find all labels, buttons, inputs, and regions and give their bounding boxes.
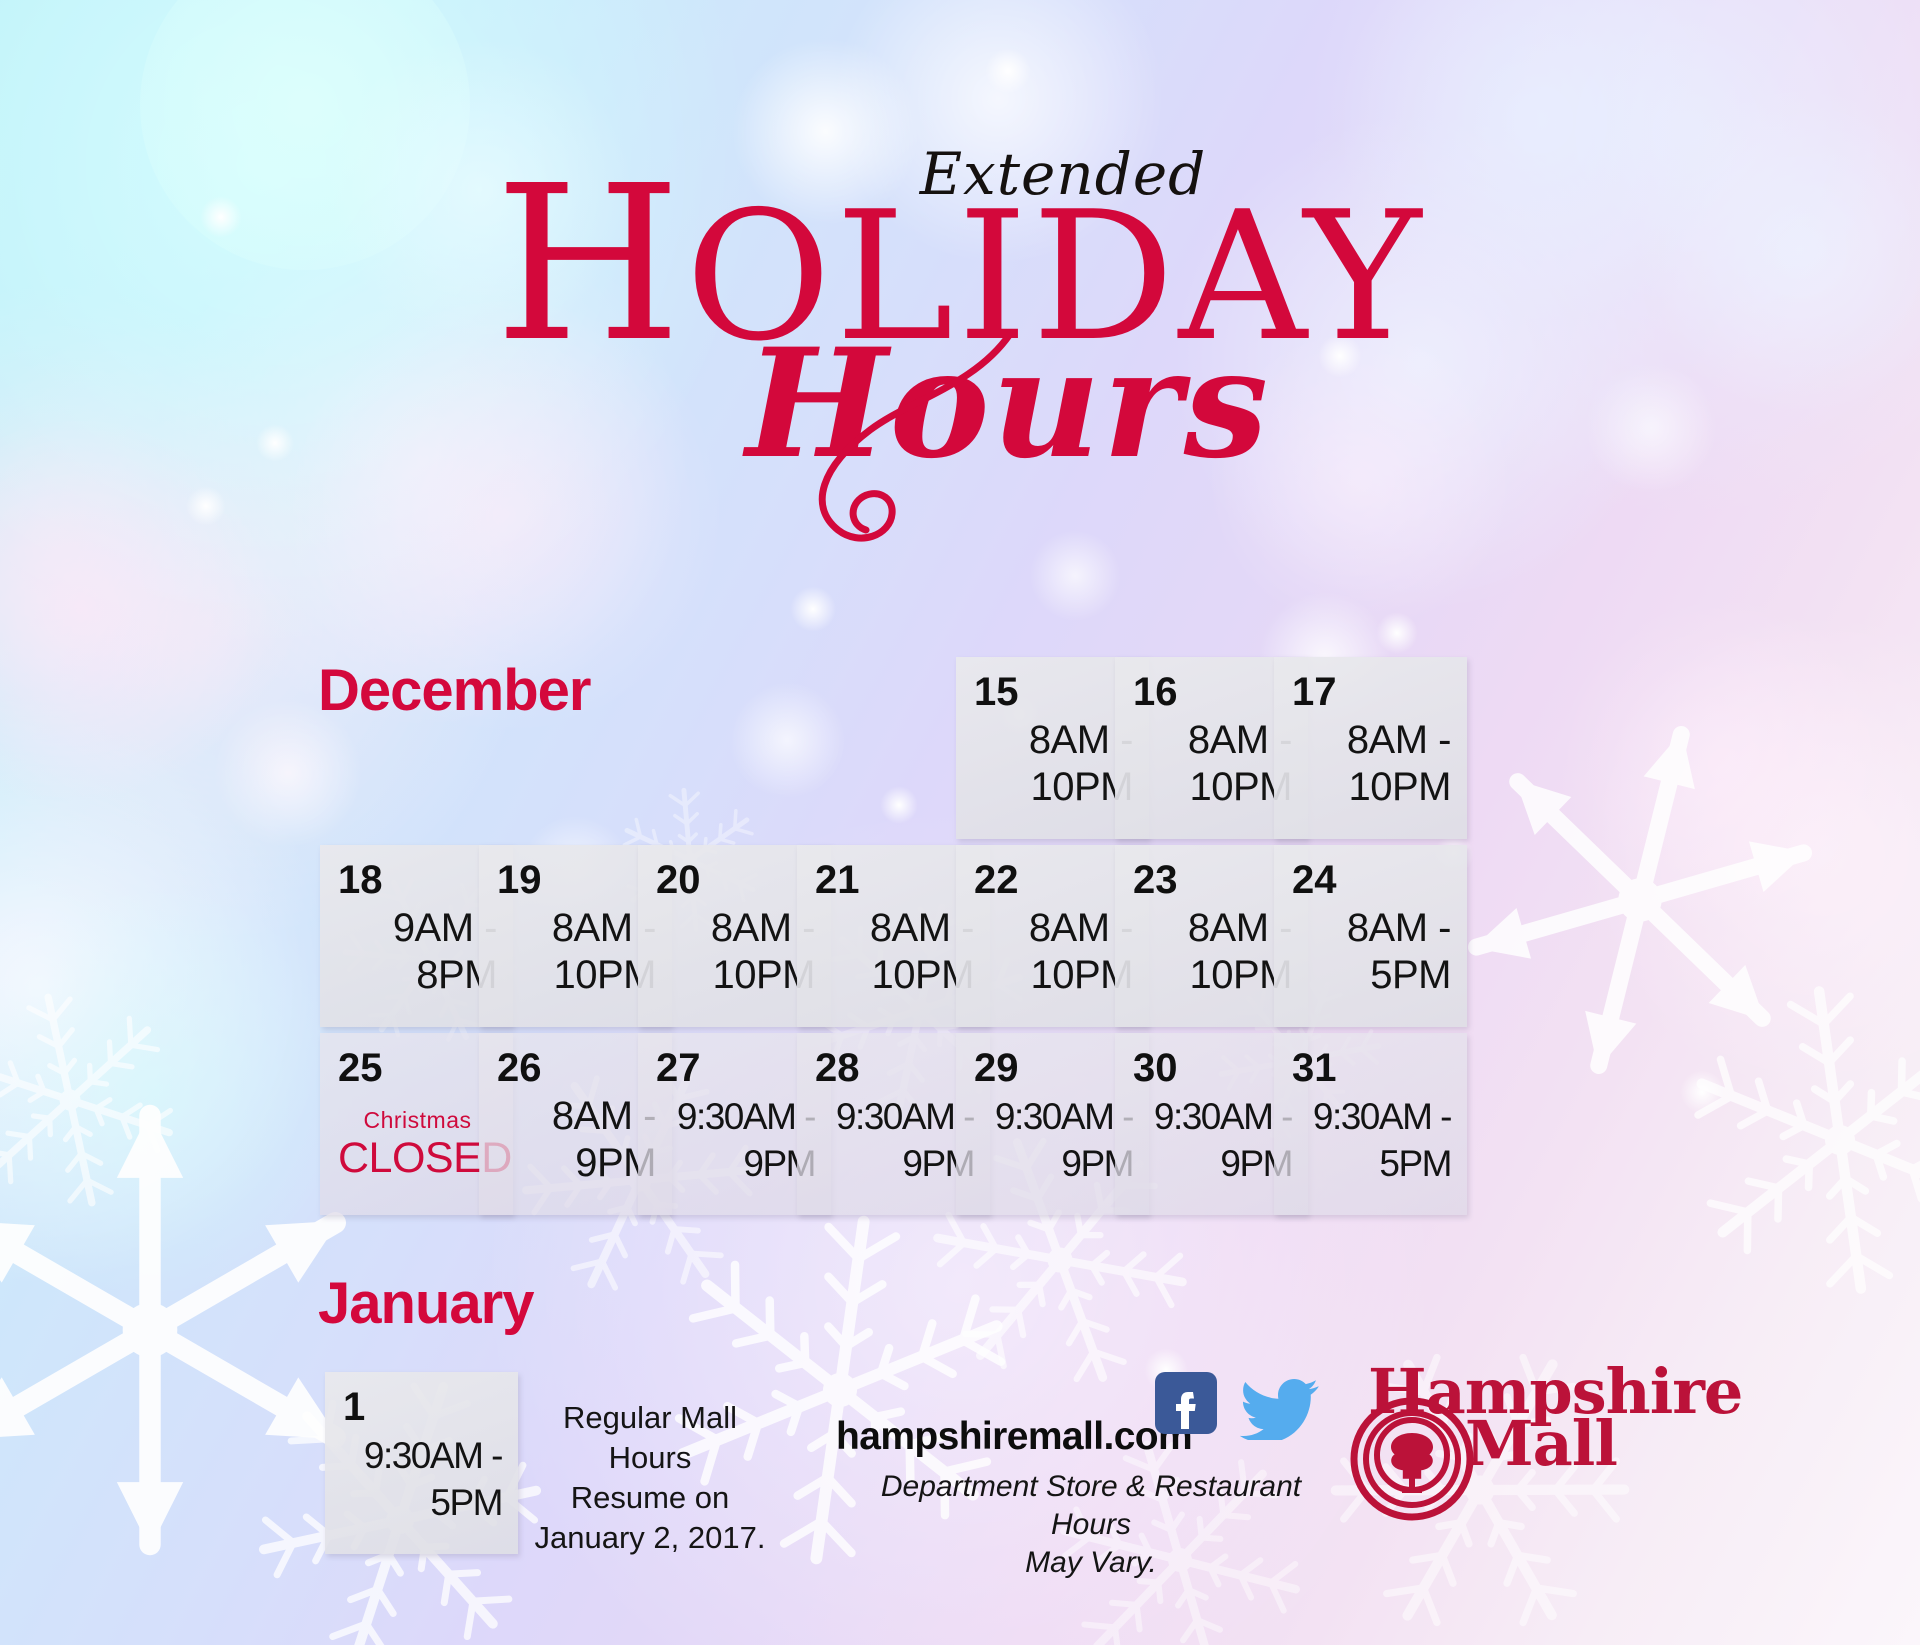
day-hours: 8AM -10PM	[656, 905, 815, 999]
day-hours: 8AM -10PM	[974, 905, 1133, 999]
day-cell-24: 248AM -5PM	[1274, 845, 1467, 1027]
text-line: January 2, 2017.	[520, 1518, 780, 1558]
title-extended-script: Extended	[103, 140, 1920, 208]
text-line: May Vary.	[856, 1544, 1326, 1582]
christmas-label: Christmas	[338, 1107, 497, 1134]
closed-status: CLOSED	[338, 1134, 497, 1182]
day-hours: 9:30AM -5PM	[1292, 1093, 1451, 1187]
facebook-icon[interactable]	[1155, 1372, 1217, 1434]
day-number: 30	[1133, 1047, 1292, 1089]
bokeh-circle	[140, 0, 470, 270]
title-holiday-capital: H	[495, 140, 686, 389]
day-number: 24	[1292, 859, 1451, 901]
day-number: 19	[497, 859, 656, 901]
day-number: 1	[343, 1386, 502, 1428]
bokeh-circle	[330, 40, 630, 340]
day-hours: 9:30AM -9PM	[974, 1093, 1133, 1187]
day-hours: 8AM -10PM	[497, 905, 656, 999]
day-number: 20	[656, 859, 815, 901]
month-heading-december: December	[318, 657, 590, 724]
title-swash-flourish	[760, 330, 1020, 550]
sparkle	[200, 196, 242, 238]
day-number: 25	[338, 1047, 497, 1089]
sparkle	[1376, 612, 1418, 654]
day-hours: 9:30AM -9PM	[1133, 1093, 1292, 1187]
day-cell-31: 319:30AM -5PM	[1274, 1033, 1467, 1215]
bokeh-circle	[0, 420, 270, 800]
resume-hours-note: Regular Mall HoursResume onJanuary 2, 20…	[520, 1398, 780, 1558]
day-hours: 8AM -9PM	[497, 1093, 656, 1187]
day-hours: 8AM -10PM	[1292, 717, 1451, 811]
bokeh-circle	[0, 880, 360, 1300]
day-hours: 8AM -10PM	[1133, 717, 1292, 811]
day-hours: 8AM -10PM	[815, 905, 974, 999]
bokeh-circle	[1640, 90, 1920, 410]
day-number: 23	[1133, 859, 1292, 901]
day-number: 15	[974, 671, 1133, 713]
text-line: Regular Mall Hours	[520, 1398, 780, 1478]
holiday-hours-poster: Extended HOLIDAY Hours December 158AM -1…	[0, 0, 1920, 1645]
text-line: Department Store & Restaurant Hours	[856, 1468, 1326, 1544]
sparkle	[985, 48, 1031, 94]
day-number: 31	[1292, 1047, 1451, 1089]
sparkle	[790, 586, 836, 632]
sparkle	[880, 786, 918, 824]
day-hours: 9AM -8PM	[338, 905, 497, 999]
day-hours: 8AM -10PM	[1133, 905, 1292, 999]
day-number: 17	[1292, 671, 1451, 713]
bokeh-circle	[1560, 600, 1890, 930]
day-number: 28	[815, 1047, 974, 1089]
tree-in-circle-emblem	[1350, 1397, 1474, 1521]
bokeh-circle	[1340, 0, 1740, 320]
logo-line-mall: Mall	[1465, 1407, 1617, 1480]
website-url[interactable]: hampshiremall.com	[836, 1415, 1192, 1459]
day-number: 21	[815, 859, 974, 901]
day-number: 22	[974, 859, 1133, 901]
sparkle	[1680, 1070, 1724, 1114]
sparkle	[1318, 334, 1362, 378]
day-number: 27	[656, 1047, 815, 1089]
day-hours: 9:30AM -5PM	[343, 1432, 502, 1526]
text-line: Resume on	[520, 1478, 780, 1518]
day-number: 18	[338, 859, 497, 901]
twitter-icon[interactable]	[1240, 1378, 1320, 1440]
day-hours: 8AM -5PM	[1292, 905, 1451, 999]
month-heading-january: January	[318, 1270, 533, 1337]
day-number: 29	[974, 1047, 1133, 1089]
day-cell-1: 19:30AM -5PM	[325, 1372, 518, 1554]
day-cell-17: 178AM -10PM	[1274, 657, 1467, 839]
bokeh-circle	[1210, 330, 1510, 630]
day-hours: 8AM -10PM	[974, 717, 1133, 811]
day-number: 16	[1133, 671, 1292, 713]
day-hours: 9:30AM -9PM	[815, 1093, 974, 1187]
hours-disclaimer: Department Store & Restaurant HoursMay V…	[856, 1468, 1326, 1582]
day-number: 26	[497, 1047, 656, 1089]
sparkle	[186, 486, 226, 526]
day-hours: 9:30AM -9PM	[656, 1093, 815, 1187]
sparkle	[256, 424, 294, 462]
hampshire-mall-logo: Hampshire Mall	[1330, 1355, 1630, 1515]
